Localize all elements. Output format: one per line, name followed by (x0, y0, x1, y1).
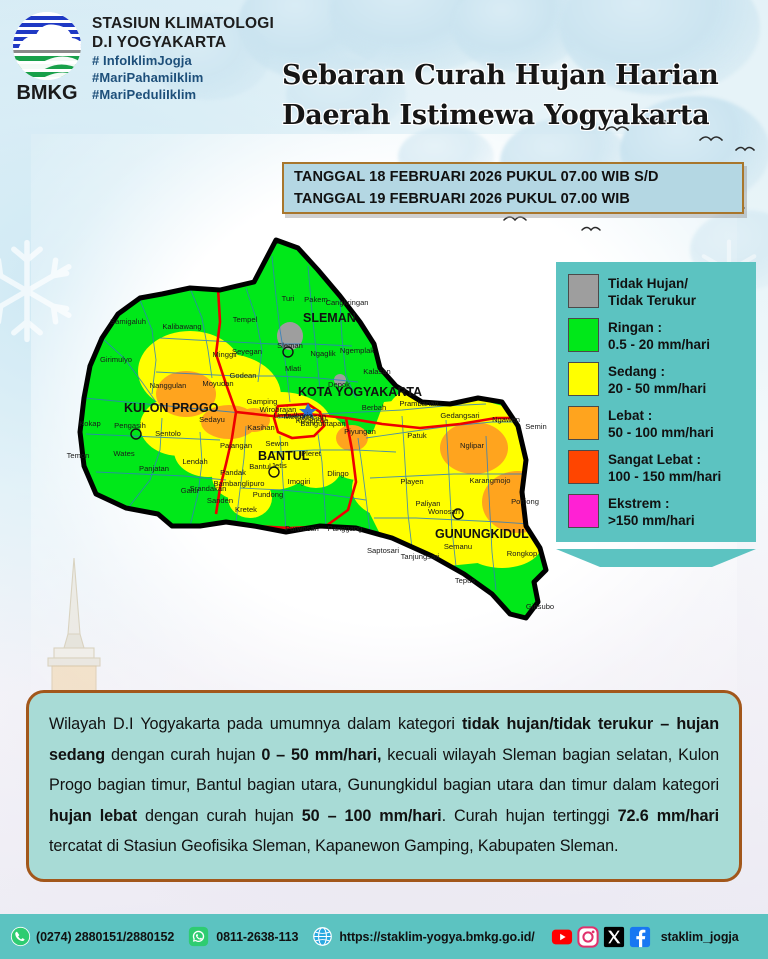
legend-label-line2: 50 - 100 mm/hari (608, 424, 714, 441)
district-label: Pleret (301, 449, 322, 458)
description-fragment: dengan curah hujan (137, 807, 302, 825)
district-label: Patuk (407, 431, 427, 440)
district-label: Sewon (265, 439, 288, 448)
bmkg-logo-text: BMKG (16, 82, 77, 102)
phone-number: (0274) 2880151/2880152 (36, 930, 174, 944)
district-label: Nanggulan (150, 381, 187, 390)
legend-color-swatch (568, 318, 599, 352)
district-label: Pengasih (114, 421, 146, 430)
description-text: Wilayah D.I Yogyakarta pada umumnya dala… (49, 709, 719, 862)
description-emphasis: 72.6 mm/hari (618, 807, 719, 825)
district-label: Prambanan (399, 399, 438, 408)
map-svg: SLEMANKULON PROGOKOTA YOGYAKARTABANTULGU… (40, 226, 560, 676)
district-label: Pandak (220, 468, 246, 477)
org-name-line1: STASIUN KLIMATOLOGI (92, 14, 274, 33)
poster-root: BMKG STASIUN KLIMATOLOGI D.I YOGYAKARTA … (0, 0, 768, 959)
district-label: Ngemplak (340, 346, 374, 355)
legend-label-line1: Sangat Lebat : (608, 451, 721, 468)
description-fragment: dengan curah hujan (105, 746, 261, 764)
district-label: Galur (181, 486, 200, 495)
district-label: Ngaglik (310, 349, 336, 358)
district-label: Ponjong (511, 497, 539, 506)
description-fragment: tercatat di Stasiun Geofisika Sleman, Ka… (49, 837, 618, 855)
district-label: Godean (229, 371, 256, 380)
legend-label-line2: Tidak Terukur (608, 292, 696, 309)
district-label: Kokap (79, 419, 101, 428)
district-label: Sleman (277, 341, 303, 350)
bmkg-logo: BMKG (8, 6, 86, 102)
district-label: Temon (67, 451, 90, 460)
legend-color-swatch (568, 494, 599, 528)
district-label: Sentolo (155, 429, 181, 438)
district-label: Samigaluh (110, 317, 146, 326)
district-label: Gedangsari (440, 411, 480, 420)
district-label: Tanjungsari (401, 552, 440, 561)
legend-item: Ekstrem :>150 mm/hari (568, 494, 746, 529)
district-label: Playen (400, 477, 423, 486)
district-label: Purwosari (285, 524, 319, 533)
district-label: Wates (113, 449, 134, 458)
website-url: https://staklim-yogya.bmkg.go.id/ (339, 930, 534, 944)
district-label: Jetis (271, 461, 287, 470)
district-label: Paliyan (416, 499, 441, 508)
district-label: Pajangan (220, 441, 252, 450)
district-label: Lendah (182, 457, 207, 466)
hashtag-2: #MariPahamiIklim (92, 69, 274, 86)
rainfall-distribution-map: SLEMANKULON PROGOKOTA YOGYAKARTABANTULGU… (40, 226, 560, 676)
district-label: Seyegan (232, 347, 262, 356)
instagram-icon[interactable] (577, 926, 599, 948)
district-label: Nglipar (460, 441, 485, 450)
facebook-icon[interactable] (629, 926, 651, 948)
district-label: Panggang (328, 524, 363, 533)
page-title: Sebaran Curah Hujan Harian Daerah Istime… (282, 56, 752, 136)
district-label: Bantul (249, 462, 271, 471)
description-fragment: . Curah hujan tertinggi (442, 807, 618, 825)
date-range-box: TANGGAL 18 FEBRUARI 2026 PUKUL 07.00 WIB… (282, 162, 744, 214)
legend-item-label: Tidak Hujan/Tidak Terukur (608, 274, 696, 309)
regency-label: GUNUNGKIDUL (435, 527, 529, 541)
district-label: Ngawen (492, 415, 520, 424)
district-label: Rongkop (507, 549, 537, 558)
district-label: Imogiri (288, 477, 311, 486)
whatsapp-icon (188, 926, 209, 947)
district-label: Piyungan (344, 427, 376, 436)
legend-item-label: Sangat Lebat :100 - 150 mm/hari (608, 450, 721, 485)
district-label: Semanu (444, 542, 472, 551)
district-label: Kalibawang (162, 322, 201, 331)
legend-label-line2: 100 - 150 mm/hari (608, 468, 721, 485)
legend-item: Ringan :0.5 - 20 mm/hari (568, 318, 746, 353)
whatsapp-number: 0811-2638-113 (216, 930, 298, 944)
social-handle: staklim_jogja (661, 930, 739, 944)
title-line-2: Daerah Istimewa Yogyakarta (282, 96, 752, 136)
district-label: Berbah (362, 403, 387, 412)
org-name-line2: D.I YOGYAKARTA (92, 33, 274, 52)
legend-label-line2: >150 mm/hari (608, 512, 695, 529)
district-label: Banguntapan (300, 419, 345, 428)
title-line-1: Sebaran Curah Hujan Harian (282, 56, 752, 96)
legend-item-label: Lebat :50 - 100 mm/hari (608, 406, 714, 441)
hashtag-3: #MariPeduliIklim (92, 86, 274, 103)
district-label: Tepus (455, 576, 475, 585)
district-label: Karangmojo (470, 476, 511, 485)
district-label: Sanden (207, 496, 233, 505)
legend-color-swatch (568, 362, 599, 396)
legend-item-label: Sedang :20 - 50 mm/hari (608, 362, 706, 397)
district-label: Tempel (233, 315, 258, 324)
legend-label-line1: Ekstrem : (608, 495, 695, 512)
district-label: Girisubo (526, 602, 554, 611)
district-label: Wonosari (428, 507, 460, 516)
district-label: Girimulyo (100, 355, 132, 364)
description-fragment: Wilayah D.I Yogyakarta pada umumnya dala… (49, 715, 462, 733)
legend-color-swatch (568, 450, 599, 484)
legend-item: Sedang :20 - 50 mm/hari (568, 362, 746, 397)
x-twitter-icon[interactable] (603, 926, 625, 948)
legend-label-line2: 20 - 50 mm/hari (608, 380, 706, 397)
website-contact[interactable]: https://staklim-yogya.bmkg.go.id/ (312, 926, 534, 947)
legend-color-swatch (568, 274, 599, 308)
district-label: Sedayu (199, 415, 225, 424)
org-text-block: STASIUN KLIMATOLOGI D.I YOGYAKARTA # Inf… (92, 14, 274, 103)
regency-label: SLEMAN (303, 311, 356, 325)
district-label: Kasihan (247, 423, 274, 432)
description-emphasis: 50 – 100 mm/hari (302, 807, 442, 825)
legend-item: Tidak Hujan/Tidak Terukur (568, 274, 746, 309)
district-label: Depok (328, 380, 350, 389)
social-media-group[interactable]: staklim_jogja (551, 926, 739, 948)
district-label: Semin (525, 422, 547, 431)
legend-label-line2: 0.5 - 20 mm/hari (608, 336, 710, 353)
district-label: Mlati (285, 364, 301, 373)
legend-label-line1: Lebat : (608, 407, 714, 424)
district-label: Kalasan (363, 367, 390, 376)
district-label: Panjatan (139, 464, 169, 473)
legend-item: Lebat :50 - 100 mm/hari (568, 406, 746, 441)
legend-item-label: Ringan :0.5 - 20 mm/hari (608, 318, 710, 353)
footer-contact-bar: (0274) 2880151/2880152 0811-2638-113 htt… (0, 914, 768, 959)
phone-contact[interactable]: (0274) 2880151/2880152 (10, 926, 174, 947)
legend-item-label: Ekstrem :>150 mm/hari (608, 494, 695, 529)
legend-label-line1: Ringan : (608, 319, 710, 336)
regency-label: KOTA YOGYAKARTA (298, 385, 422, 399)
legend-label-line1: Tidak Hujan/ (608, 275, 696, 292)
globe-icon (312, 926, 333, 947)
youtube-icon[interactable] (551, 926, 573, 948)
legend-color-swatch (568, 406, 599, 440)
legend-item: Sangat Lebat :100 - 150 mm/hari (568, 450, 746, 485)
hashtag-1: # InfoIklimJogja (92, 52, 274, 69)
date-line-1: TANGGAL 18 FEBRUARI 2026 PUKUL 07.00 WIB… (294, 166, 742, 188)
legend-label-line1: Sedang : (608, 363, 706, 380)
district-label: Pakem (304, 295, 328, 304)
district-label: Kretek (235, 505, 257, 514)
rainfall-legend: Tidak Hujan/Tidak TerukurRingan :0.5 - 2… (556, 262, 756, 542)
phone-icon (10, 926, 31, 947)
date-line-2: TANGGAL 19 FEBRUARI 2026 PUKUL 07.00 WIB (294, 188, 742, 210)
description-emphasis: hujan lebat (49, 807, 137, 825)
description-box: Wilayah D.I Yogyakarta pada umumnya dala… (26, 690, 742, 882)
district-label: Saptosari (367, 546, 399, 555)
whatsapp-contact[interactable]: 0811-2638-113 (188, 926, 298, 947)
district-label: Dlingo (327, 469, 349, 478)
district-label: Pundong (253, 490, 283, 499)
regency-label: KULON PROGO (124, 401, 219, 415)
district-label: Moyudan (202, 379, 233, 388)
district-label: Cangkringan (325, 298, 368, 307)
district-label: Turi (282, 294, 295, 303)
description-emphasis: 0 – 50 mm/hari, (261, 746, 381, 764)
